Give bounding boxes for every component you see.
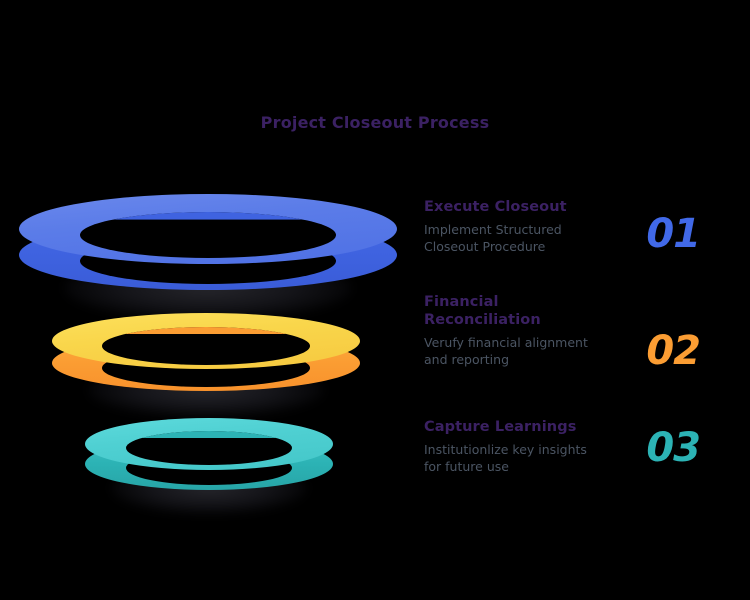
step-number-2: 02 [646,331,700,371]
step-number-1: 01 [646,214,700,254]
step-heading-3: Capture Learnings [424,418,639,436]
funnel-ring-teal [85,418,333,490]
step-body-1: Implement Structured Closeout Procedure [424,221,624,255]
infographic-canvas: Project Closeout Process [0,0,750,600]
step-item-1[interactable]: Execute Closeout Implement Structured Cl… [424,198,750,255]
ring-hole-shade-teal [126,431,292,465]
step-heading-1: Execute Closeout [424,198,639,216]
step-item-3[interactable]: Capture Learnings Institutionlize key in… [424,418,750,475]
step-body-3: Institutionlize key insights for future … [424,441,624,475]
ring-hole-shade-orange [102,327,310,365]
funnel-ring-blue [19,194,397,290]
funnel-rings-graphic [0,0,420,600]
step-heading-2: Financial Reconciliation [424,293,639,329]
step-item-2[interactable]: Financial Reconciliation Verufy financia… [424,293,750,368]
step-body-2: Verufy financial alignment and reporting [424,334,624,368]
step-number-3: 03 [646,428,700,468]
ring-hole-shade-blue [80,212,336,258]
funnel-ring-orange [52,313,360,391]
